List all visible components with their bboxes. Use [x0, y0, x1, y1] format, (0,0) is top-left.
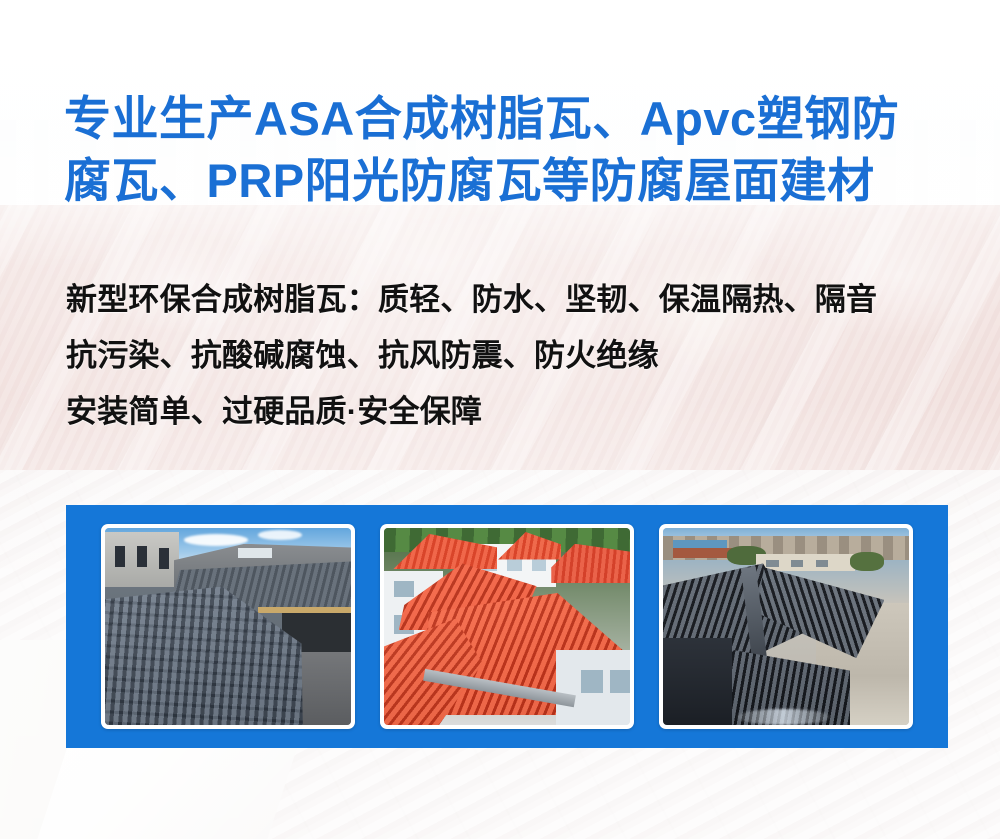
banner-content: 专业生产ASA合成树脂瓦、Apvc塑钢防 腐瓦、PRP阳光防腐瓦等防腐屋面建材 …: [0, 0, 1000, 839]
page-subtitle-line-3: 安装简单、过硬品质·安全保障: [66, 384, 966, 440]
photo3-window: [791, 560, 803, 568]
gray-resin-tile-roof-photo: [105, 528, 351, 725]
photo3-window: [766, 560, 778, 568]
dark-resin-tile-roof-photo: [663, 528, 909, 725]
page-title-line-1: 专业生产ASA合成树脂瓦、Apvc塑钢防: [64, 88, 954, 150]
page-subtitle-line-2: 抗污染、抗酸碱腐蚀、抗风防震、防火绝缘: [66, 328, 966, 384]
page-subtitle-line-1: 新型环保合成树脂瓦：质轻、防水、坚韧、保温隔热、隔音: [66, 272, 966, 328]
photo2-window: [610, 670, 630, 694]
photo3-window: [816, 560, 828, 568]
photo-frame-2[interactable]: [380, 524, 634, 729]
photo1-window: [115, 546, 125, 568]
photo3-shadow-area: [663, 638, 732, 725]
photo3-tree-2: [850, 552, 884, 572]
page-title-line-2: 腐瓦、PRP阳光防腐瓦等防腐屋面建材: [64, 150, 954, 212]
photo3-red-building: [673, 548, 732, 558]
photo1-skylight: [238, 548, 272, 558]
photo1-cloud-icon: [184, 534, 248, 546]
photo1-window: [159, 548, 169, 570]
photo1-window: [137, 546, 147, 568]
red-resin-tile-roof-photo: [384, 528, 630, 725]
page-subtitle: 新型环保合成树脂瓦：质轻、防水、坚韧、保温隔热、隔音 抗污染、抗酸碱腐蚀、抗风防…: [66, 272, 966, 440]
photo2-window: [581, 670, 603, 694]
photo-frame-3[interactable]: [659, 524, 913, 729]
photo-gallery: [66, 505, 948, 748]
photo3-light-flare: [737, 709, 830, 725]
photo2-window: [394, 581, 414, 597]
page-title: 专业生产ASA合成树脂瓦、Apvc塑钢防 腐瓦、PRP阳光防腐瓦等防腐屋面建材: [64, 88, 954, 212]
photo-frame-1[interactable]: [101, 524, 355, 729]
photo1-cloud-icon-2: [258, 530, 302, 540]
